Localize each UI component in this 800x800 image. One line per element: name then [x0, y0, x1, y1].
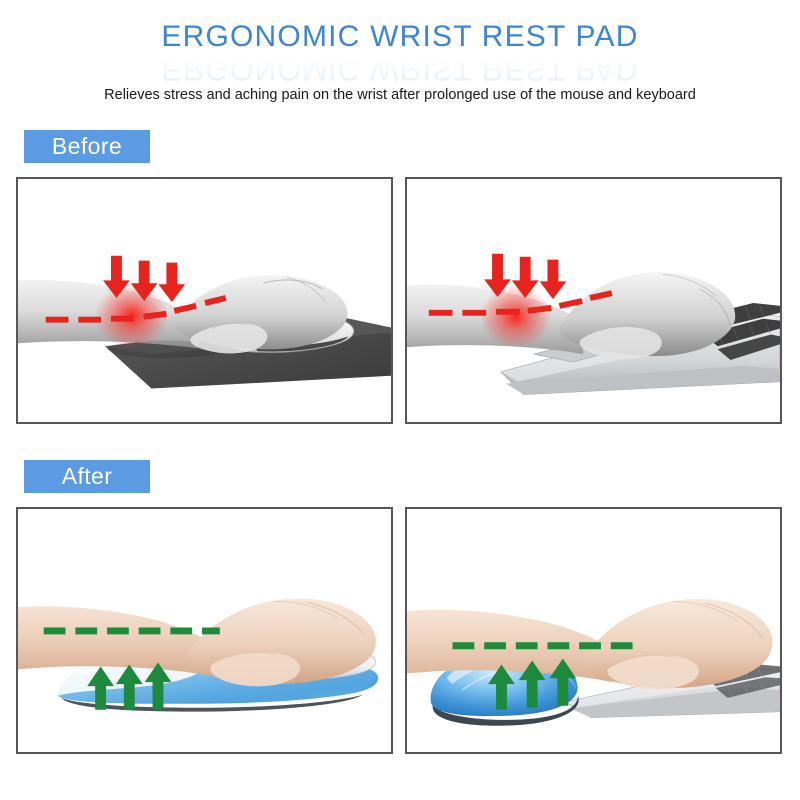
- support-arrows-up: [87, 662, 171, 709]
- photo-panel-before-laptop: [405, 177, 782, 424]
- pressure-arrows-down: [103, 256, 185, 302]
- photo-panel-before-mouse: [16, 177, 393, 424]
- illustration-before-laptop: [407, 179, 780, 422]
- section-badge-before-label: Before: [52, 133, 122, 160]
- support-arrows-up: [488, 659, 576, 710]
- section-badge-before: Before: [24, 130, 150, 163]
- photo-panel-after-mouse: [16, 507, 393, 754]
- section-badge-after: After: [24, 460, 150, 493]
- page-subtitle: Relieves stress and aching pain on the w…: [0, 87, 800, 103]
- pain-glow: [480, 285, 551, 348]
- page-title: ERGONOMIC WRIST REST PAD: [0, 22, 800, 52]
- illustration-after-laptop: [407, 509, 780, 752]
- pressure-arrows-down: [484, 254, 566, 299]
- header-title-block: ERGONOMIC WRIST REST PAD ERGONOMIC WRIST…: [0, 22, 800, 84]
- infographic-page: ERGONOMIC WRIST REST PAD ERGONOMIC WRIST…: [0, 0, 800, 800]
- page-title-reflection: ERGONOMIC WRIST REST PAD: [0, 54, 800, 84]
- section-badge-after-label: After: [62, 463, 113, 490]
- illustration-before-mouse: [18, 179, 391, 422]
- illustration-after-mouse: [18, 509, 391, 752]
- photo-panel-after-laptop: [405, 507, 782, 754]
